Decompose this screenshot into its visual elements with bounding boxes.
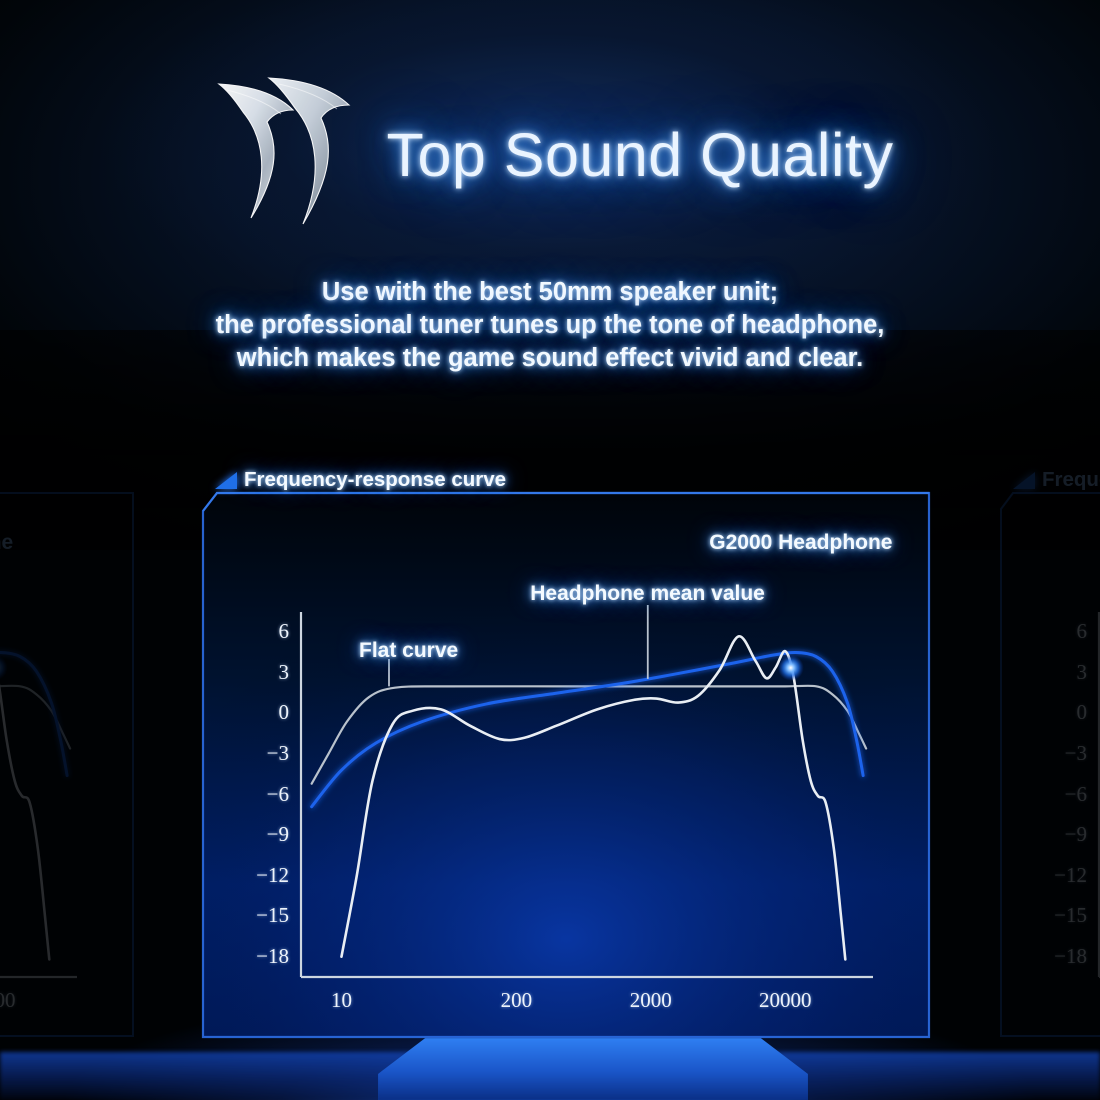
series-g2000-headphone	[341, 636, 845, 959]
page-title: Top Sound Quality	[387, 125, 894, 186]
subtitle-line-2: the professional tuner tunes up the tone…	[0, 309, 1100, 342]
ghost-panel-left: Frequency-response curve	[0, 487, 135, 1044]
y-tick: −12	[243, 863, 289, 888]
x-tick: 20000	[740, 988, 830, 1013]
y-tick: −18	[1041, 944, 1087, 969]
frequency-response-panel: Frequency-response curve	[201, 487, 931, 1044]
annotation-leaders	[389, 553, 791, 686]
chart-canvas	[201, 487, 931, 1044]
ghost-panel-right: Frequency-response curve	[999, 487, 1100, 1044]
y-tick: −6	[243, 782, 289, 807]
callout-g2000: G2000 Headphone	[709, 531, 892, 555]
chart-canvas	[0, 487, 135, 1044]
blue-triangle-icon	[1013, 472, 1035, 489]
y-tick: −18	[243, 944, 289, 969]
subtitle: Use with the best 50mm speaker unit; the…	[0, 276, 1100, 375]
x-tick: 10	[1094, 988, 1100, 1013]
y-tick: 6	[1041, 619, 1087, 644]
subtitle-line-3: which makes the game sound effect vivid …	[0, 342, 1100, 375]
header: Top Sound Quality Use with the best 50mm…	[0, 78, 1100, 375]
series-headphone-mean-value	[0, 653, 67, 807]
y-tick: 0	[1041, 700, 1087, 725]
y-tick: −9	[243, 822, 289, 847]
y-tick: 3	[243, 660, 289, 685]
x-tick: 2000	[606, 988, 696, 1013]
y-tick: 3	[1041, 660, 1087, 685]
ghost-chart-left: 630−3−6−9−12−15−1810200200020000Flat cur…	[0, 487, 135, 1044]
blue-triangle-icon	[215, 472, 237, 489]
y-tick: −15	[1041, 903, 1087, 928]
y-tick: 0	[243, 700, 289, 725]
callout-flat-curve: Flat curve	[359, 639, 458, 663]
title-row: Top Sound Quality	[0, 78, 1100, 232]
blue-glow-dot-icon	[0, 655, 8, 681]
y-tick: 6	[243, 619, 289, 644]
x-tick: 10	[296, 988, 386, 1013]
x-tick: 20000	[0, 988, 34, 1013]
bottom-trapezoid-glow	[378, 1038, 808, 1100]
subtitle-line-1: Use with the best 50mm speaker unit;	[0, 276, 1100, 309]
y-tick: −15	[243, 903, 289, 928]
blue-glow-dot-icon	[778, 655, 804, 681]
callout-g2000: G2000 Headphone	[0, 531, 13, 555]
y-tick: −3	[243, 741, 289, 766]
ghost-chart-right: 630−3−6−9−12−15−1810200200020000Flat cur…	[999, 487, 1100, 1044]
ghost-panel-left-frame: Frequency-response curve	[0, 487, 135, 1044]
y-tick: −9	[1041, 822, 1087, 847]
x-tick: 200	[471, 988, 561, 1013]
series-layer	[0, 636, 70, 959]
series-g2000-headphone	[0, 636, 49, 959]
frequency-response-chart: Flat curve Headphone mean value G2000 He…	[201, 487, 931, 1044]
double-claw-wing-icon	[207, 72, 377, 232]
y-tick: −6	[1041, 782, 1087, 807]
series-layer	[312, 636, 866, 959]
y-tick: −3	[1041, 741, 1087, 766]
series-flat-curve	[312, 686, 866, 784]
callout-mean-value: Headphone mean value	[530, 582, 765, 606]
y-tick: −12	[1041, 863, 1087, 888]
ghost-panel-right-frame: Frequency-response curve	[999, 487, 1100, 1044]
page-root: Top Sound Quality Use with the best 50mm…	[0, 0, 1100, 1100]
